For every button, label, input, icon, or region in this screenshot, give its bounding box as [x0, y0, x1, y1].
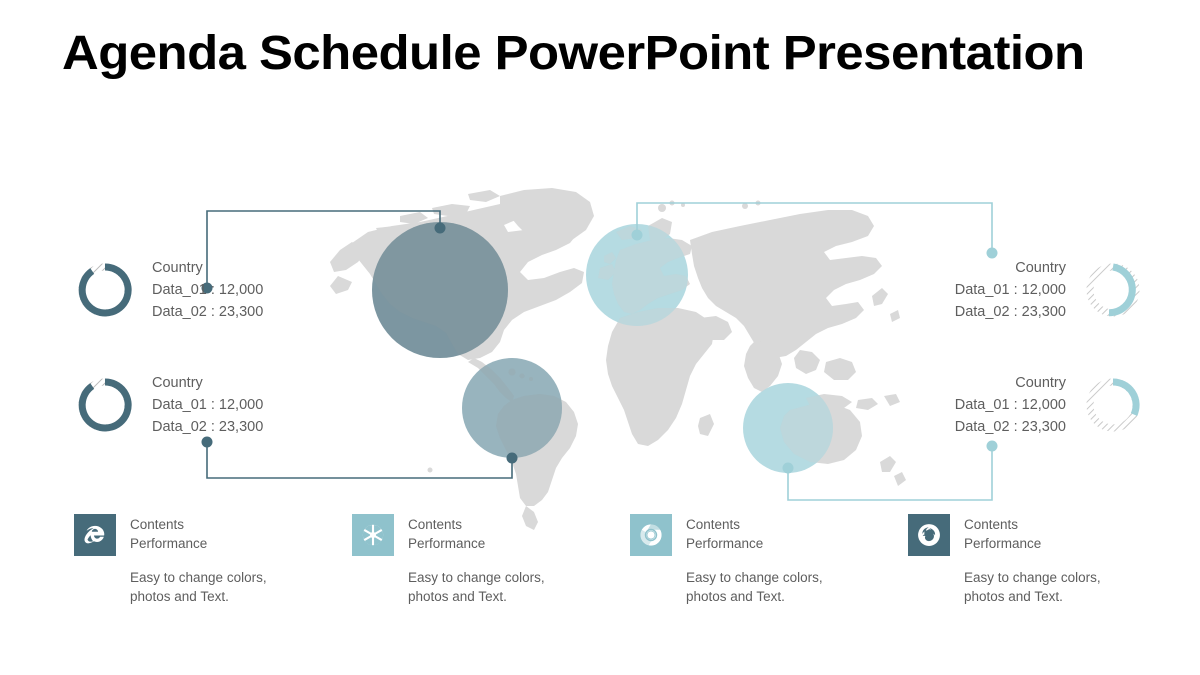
feature-title-line-1: Contents — [686, 515, 763, 534]
region-info-south-america[interactable]: Country Data_01 : 12,000 Data_02 : 23,30… — [76, 372, 263, 438]
region-bubble-europe — [330, 188, 906, 530]
camera-shutter-icon[interactable] — [352, 514, 394, 556]
region-bubble-australia — [330, 188, 906, 530]
internet-explorer-icon[interactable] — [74, 514, 116, 556]
donut-progress-icon — [1084, 376, 1142, 434]
country-label: Country — [955, 372, 1066, 394]
region-info-north-america[interactable]: Country Data_01 : 12,000 Data_02 : 23,30… — [76, 257, 263, 323]
data-02-label: Data_02 : 23,300 — [152, 301, 263, 323]
data-02-label: Data_02 : 23,300 — [955, 416, 1066, 438]
region-info-text: Country Data_01 : 12,000 Data_02 : 23,30… — [152, 372, 263, 438]
country-label: Country — [152, 257, 263, 279]
connector-australia — [783, 441, 998, 501]
feature-desc-line-2: photos and Text. — [408, 587, 602, 606]
feature-title: Contents Performance — [964, 514, 1041, 553]
feature-card-3[interactable]: Contents Performance Easy to change colo… — [630, 514, 880, 606]
data-02-label: Data_02 : 23,300 — [955, 301, 1066, 323]
chrome-icon[interactable] — [630, 514, 672, 556]
feature-card-2[interactable]: Contents Performance Easy to change colo… — [352, 514, 602, 606]
feature-title: Contents Performance — [408, 514, 485, 553]
connector-south-america — [202, 437, 518, 479]
feature-desc-line-1: Easy to change colors, — [686, 568, 880, 587]
feature-desc-line-1: Easy to change colors, — [130, 568, 324, 587]
feature-description: Easy to change colors, photos and Text. — [130, 568, 324, 606]
feature-title-line-2: Performance — [964, 534, 1041, 553]
feature-description: Easy to change colors, photos and Text. — [686, 568, 880, 606]
donut-progress-icon — [76, 376, 134, 434]
feature-description: Easy to change colors, photos and Text. — [964, 568, 1158, 606]
feature-title-line-1: Contents — [130, 515, 207, 534]
data-01-label: Data_01 : 12,000 — [152, 279, 263, 301]
data-01-label: Data_01 : 12,000 — [955, 279, 1066, 301]
feature-title-line-1: Contents — [964, 515, 1041, 534]
page-title: Agenda Schedule PowerPoint Presentation — [62, 26, 1200, 81]
feature-header: Contents Performance — [908, 514, 1158, 556]
feature-header: Contents Performance — [630, 514, 880, 556]
feature-header: Contents Performance — [74, 514, 324, 556]
feature-title-line-2: Performance — [408, 534, 485, 553]
country-label: Country — [152, 372, 263, 394]
feature-title: Contents Performance — [686, 514, 763, 553]
data-02-label: Data_02 : 23,300 — [152, 416, 263, 438]
feature-title-line-1: Contents — [408, 515, 485, 534]
donut-progress-icon — [76, 261, 134, 319]
feature-desc-line-2: photos and Text. — [130, 587, 324, 606]
region-bubble-south-america — [330, 188, 906, 530]
region-info-australia[interactable]: Country Data_01 : 12,000 Data_02 : 23,30… — [955, 372, 1142, 438]
region-bubble-north-america — [330, 188, 906, 530]
country-label: Country — [955, 257, 1066, 279]
feature-description: Easy to change colors, photos and Text. — [408, 568, 602, 606]
feature-title-line-2: Performance — [130, 534, 207, 553]
feature-header: Contents Performance — [352, 514, 602, 556]
feature-desc-line-2: photos and Text. — [686, 587, 880, 606]
data-01-label: Data_01 : 12,000 — [955, 394, 1066, 416]
feature-desc-line-1: Easy to change colors, — [408, 568, 602, 587]
connector-europe — [632, 203, 998, 259]
feature-title-line-2: Performance — [686, 534, 763, 553]
donut-progress-icon — [1084, 261, 1142, 319]
feature-card-4[interactable]: Contents Performance Easy to change colo… — [908, 514, 1158, 606]
feature-card-1[interactable]: Contents Performance Easy to change colo… — [74, 514, 324, 606]
region-info-text: Country Data_01 : 12,000 Data_02 : 23,30… — [955, 372, 1066, 438]
world-map-landmasses — [330, 188, 906, 530]
region-info-text: Country Data_01 : 12,000 Data_02 : 23,30… — [152, 257, 263, 323]
region-info-text: Country Data_01 : 12,000 Data_02 : 23,30… — [955, 257, 1066, 323]
presentation-slide: Agenda Schedule PowerPoint Presentation — [0, 0, 1200, 675]
region-info-europe[interactable]: Country Data_01 : 12,000 Data_02 : 23,30… — [955, 257, 1142, 323]
feature-desc-line-1: Easy to change colors, — [964, 568, 1158, 587]
data-01-label: Data_01 : 12,000 — [152, 394, 263, 416]
feature-title: Contents Performance — [130, 514, 207, 553]
firefox-icon[interactable] — [908, 514, 950, 556]
feature-desc-line-2: photos and Text. — [964, 587, 1158, 606]
